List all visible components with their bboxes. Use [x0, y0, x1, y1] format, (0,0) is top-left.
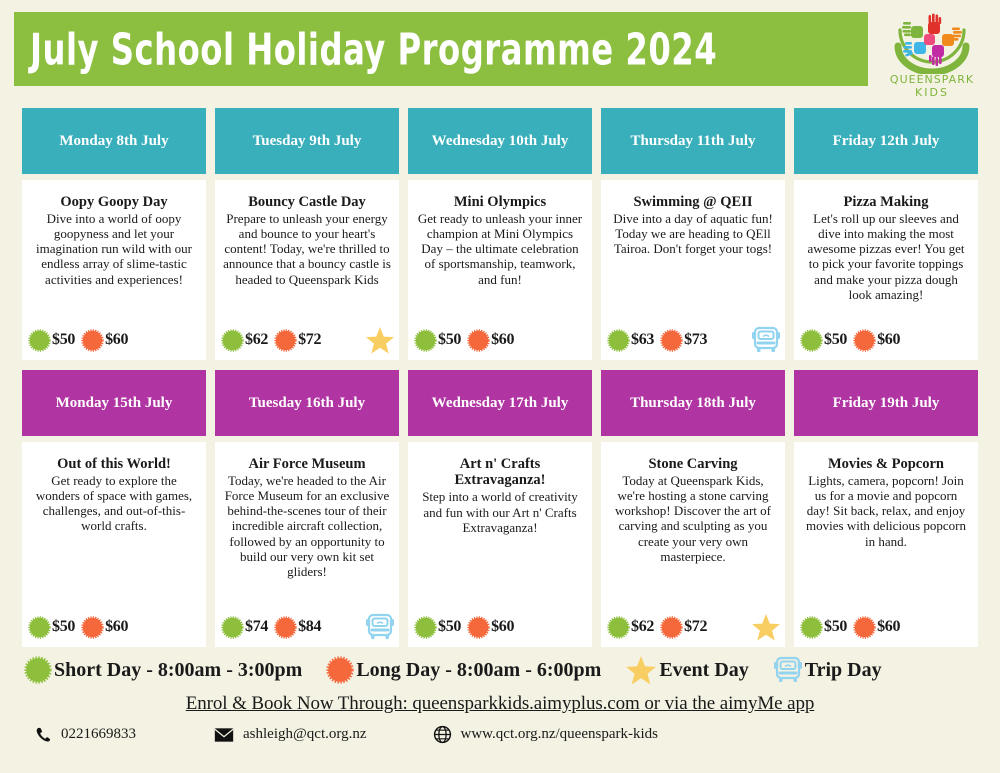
day-card-monday-15-july[interactable]: Monday 15th July Out of this World! Get …: [22, 370, 206, 647]
legend-label: Trip Day: [805, 659, 882, 682]
activity-title: Oopy Goopy Day: [30, 194, 198, 210]
day-type-icon-slot: [365, 613, 395, 641]
green-dot-icon: [414, 616, 437, 639]
short-day-price: $50: [438, 618, 461, 636]
short-day-badge: $74: [221, 616, 268, 639]
star-icon: [751, 613, 781, 642]
short-day-price: $50: [52, 618, 75, 636]
green-dot-icon: [607, 329, 630, 352]
day-header: Thursday 18th July: [601, 370, 785, 436]
short-day-badge: $50: [414, 616, 461, 639]
short-day-badge: $62: [221, 329, 268, 352]
day-card-wednesday-10-july[interactable]: Wednesday 10th July Mini Olympics Get re…: [408, 108, 592, 360]
legend-label: Event Day: [659, 659, 748, 682]
day-content: Bouncy Castle Day Prepare to unleash you…: [215, 180, 399, 360]
short-day-price: $62: [631, 618, 654, 636]
orange-dot-icon: [81, 616, 104, 639]
day-card-friday-12-july[interactable]: Friday 12th July Pizza Making Let's roll…: [794, 108, 978, 360]
orange-dot-icon: [660, 329, 683, 352]
star-icon: [365, 326, 395, 355]
bus-icon: [751, 326, 781, 354]
long-day-price: $60: [105, 618, 128, 636]
globe-icon: [433, 725, 452, 744]
activity-title: Swimming @ QEII: [609, 194, 777, 210]
short-day-badge: $50: [800, 329, 847, 352]
contact-website[interactable]: www.qct.org.nz/queenspark-kids: [433, 725, 658, 744]
hand-orange-icon: [942, 28, 962, 47]
short-day-price: $50: [52, 331, 75, 349]
price-badges: $50 $60: [414, 614, 588, 640]
short-day-badge: $63: [607, 329, 654, 352]
orange-dot-icon: [853, 616, 876, 639]
short-day-price: $74: [245, 618, 268, 636]
day-card-thursday-18-july[interactable]: Thursday 18th July Stone Carving Today a…: [601, 370, 785, 647]
activity-title: Stone Carving: [609, 456, 777, 472]
long-day-badge: $60: [81, 329, 128, 352]
day-content: Swimming @ QEII Dive into a day of aquat…: [601, 180, 785, 360]
phone-number: 0221669833: [61, 726, 136, 743]
logo-hands-icon: [878, 12, 986, 74]
orange-dot-icon: [853, 329, 876, 352]
day-type-icon-slot: [751, 326, 781, 354]
orange-dot-icon: [81, 329, 104, 352]
day-content: Oopy Goopy Day Dive into a world of oopy…: [22, 180, 206, 360]
day-content: Air Force Museum Today, we're headed to …: [215, 442, 399, 647]
orange-dot-icon: [467, 616, 490, 639]
long-day-price: $72: [298, 331, 321, 349]
price-badges: $50 $60: [800, 327, 974, 353]
green-dot-icon: [800, 616, 823, 639]
short-day-badge: $50: [28, 329, 75, 352]
activity-title: Out of this World!: [30, 456, 198, 472]
green-dot-icon: [28, 329, 51, 352]
orange-dot-icon: [660, 616, 683, 639]
page-title: July School Holiday Programme 2024: [30, 24, 717, 75]
short-day-price: $62: [245, 331, 268, 349]
legend-label: Long Day - 8:00am - 6:00pm: [356, 659, 601, 682]
short-day-badge: $50: [414, 329, 461, 352]
price-badges: $62 $72: [221, 327, 395, 353]
short-day-price: $50: [438, 331, 461, 349]
activity-title: Pizza Making: [802, 194, 970, 210]
short-day-price: $50: [824, 331, 847, 349]
day-content: Pizza Making Let's roll up our sleeves a…: [794, 180, 978, 360]
long-day-price: $60: [491, 618, 514, 636]
phone-icon: [34, 726, 52, 744]
legend-bar: Short Day - 8:00am - 3:00pm Long Day - 8…: [0, 647, 1000, 687]
page-header: July School Holiday Programme 2024: [0, 0, 1000, 94]
legend-label: Short Day - 8:00am - 3:00pm: [54, 659, 302, 682]
long-day-badge: $60: [467, 329, 514, 352]
day-header: Monday 8th July: [22, 108, 206, 174]
day-header: Thursday 11th July: [601, 108, 785, 174]
day-header: Tuesday 9th July: [215, 108, 399, 174]
long-day-badge: $84: [274, 616, 321, 639]
legend-event-day: Event Day: [625, 655, 748, 686]
price-badges: $63 $73: [607, 327, 781, 353]
long-day-badge: $72: [274, 329, 321, 352]
activity-title: Air Force Museum: [223, 456, 391, 472]
green-dot-icon: [28, 616, 51, 639]
day-content: Art n' Crafts Extravaganza! Step into a …: [408, 442, 592, 647]
week-2-row: Monday 15th July Out of this World! Get …: [0, 370, 1000, 647]
day-header: Wednesday 10th July: [408, 108, 592, 174]
day-header: Tuesday 16th July: [215, 370, 399, 436]
enrol-text[interactable]: Enrol & Book Now Through: queensparkkids…: [186, 693, 815, 714]
hand-pink-icon: [924, 34, 935, 45]
legend-trip-day: Trip Day: [773, 656, 882, 684]
short-day-badge: $50: [28, 616, 75, 639]
logo-text-queenspark: QUEENSPARK: [878, 74, 986, 86]
price-badges: $50 $60: [28, 327, 202, 353]
short-day-price: $63: [631, 331, 654, 349]
activity-title: Art n' Crafts Extravaganza!: [416, 456, 584, 488]
price-badges: $50 $60: [28, 614, 202, 640]
title-banner: July School Holiday Programme 2024: [14, 12, 868, 86]
long-day-badge: $73: [660, 329, 707, 352]
long-day-price: $73: [684, 331, 707, 349]
day-type-icon-slot: [751, 613, 781, 642]
short-day-badge: $50: [800, 616, 847, 639]
star-icon: [625, 655, 657, 686]
day-header: Friday 19th July: [794, 370, 978, 436]
mail-icon: [214, 727, 234, 743]
long-day-badge: $60: [467, 616, 514, 639]
long-day-price: $60: [105, 331, 128, 349]
bus-icon: [773, 656, 803, 684]
day-card-tuesday-16-july[interactable]: Tuesday 16th July Air Force Museum Today…: [215, 370, 399, 647]
short-day-badge: $62: [607, 616, 654, 639]
long-day-price: $60: [491, 331, 514, 349]
long-day-price: $72: [684, 618, 707, 636]
day-header: Friday 12th July: [794, 108, 978, 174]
hand-green-icon: [902, 22, 923, 38]
orange-dot-icon: [326, 656, 354, 684]
price-badges: $50 $60: [414, 327, 588, 353]
legend-short-day: Short Day - 8:00am - 3:00pm: [24, 656, 302, 684]
contact-bar: 0221669833 ashleigh@qct.org.nz www.qct.o…: [0, 715, 1000, 744]
long-day-badge: $60: [853, 329, 900, 352]
long-day-price: $60: [877, 331, 900, 349]
activity-title: Bouncy Castle Day: [223, 194, 391, 210]
day-type-icon-slot: [365, 326, 395, 355]
price-badges: $50 $60: [800, 614, 974, 640]
day-card-wednesday-17-july[interactable]: Wednesday 17th July Art n' Crafts Extrav…: [408, 370, 592, 647]
green-dot-icon: [800, 329, 823, 352]
day-content: Mini Olympics Get ready to unleash your …: [408, 180, 592, 360]
hand-red-icon: [928, 14, 941, 35]
green-dot-icon: [414, 329, 437, 352]
day-card-thursday-11-july[interactable]: Thursday 11th July Swimming @ QEII Dive …: [601, 108, 785, 360]
day-card-friday-19-july[interactable]: Friday 19th July Movies & Popcorn Lights…: [794, 370, 978, 647]
long-day-price: $60: [877, 618, 900, 636]
bus-icon: [365, 613, 395, 641]
legend-long-day: Long Day - 8:00am - 6:00pm: [326, 656, 601, 684]
email-address: ashleigh@qct.org.nz: [243, 726, 367, 743]
contact-phone[interactable]: 0221669833: [34, 726, 136, 744]
week-1-row: Monday 8th July Oopy Goopy Day Dive into…: [0, 108, 1000, 360]
day-content: Movies & Popcorn Lights, camera, popcorn…: [794, 442, 978, 647]
long-day-badge: $72: [660, 616, 707, 639]
long-day-badge: $60: [81, 616, 128, 639]
queenspark-kids-logo: QUEENSPARK KIDS: [878, 12, 986, 104]
contact-email[interactable]: ashleigh@qct.org.nz: [214, 726, 367, 743]
price-badges: $74 $84: [221, 614, 395, 640]
flyer-page: July School Holiday Programme 2024: [0, 0, 1000, 773]
day-card-monday-8-july[interactable]: Monday 8th July Oopy Goopy Day Dive into…: [22, 108, 206, 360]
green-dot-icon: [24, 656, 52, 684]
orange-dot-icon: [274, 616, 297, 639]
long-day-badge: $60: [853, 616, 900, 639]
enrol-line[interactable]: Enrol & Book Now Through: queensparkkids…: [0, 687, 1000, 715]
green-dot-icon: [221, 616, 244, 639]
day-content: Stone Carving Today at Queenspark Kids, …: [601, 442, 785, 647]
green-dot-icon: [607, 616, 630, 639]
day-header: Monday 15th July: [22, 370, 206, 436]
day-content: Out of this World! Get ready to explore …: [22, 442, 206, 647]
day-header: Wednesday 17th July: [408, 370, 592, 436]
orange-dot-icon: [467, 329, 490, 352]
day-card-tuesday-9-july[interactable]: Tuesday 9th July Bouncy Castle Day Prepa…: [215, 108, 399, 360]
logo-text-kids: KIDS: [878, 87, 986, 99]
long-day-price: $84: [298, 618, 321, 636]
orange-dot-icon: [274, 329, 297, 352]
price-badges: $62 $72: [607, 614, 781, 640]
activity-title: Mini Olympics: [416, 194, 584, 210]
short-day-price: $50: [824, 618, 847, 636]
activity-title: Movies & Popcorn: [802, 456, 970, 472]
website-url: www.qct.org.nz/queenspark-kids: [461, 726, 658, 743]
green-dot-icon: [221, 329, 244, 352]
